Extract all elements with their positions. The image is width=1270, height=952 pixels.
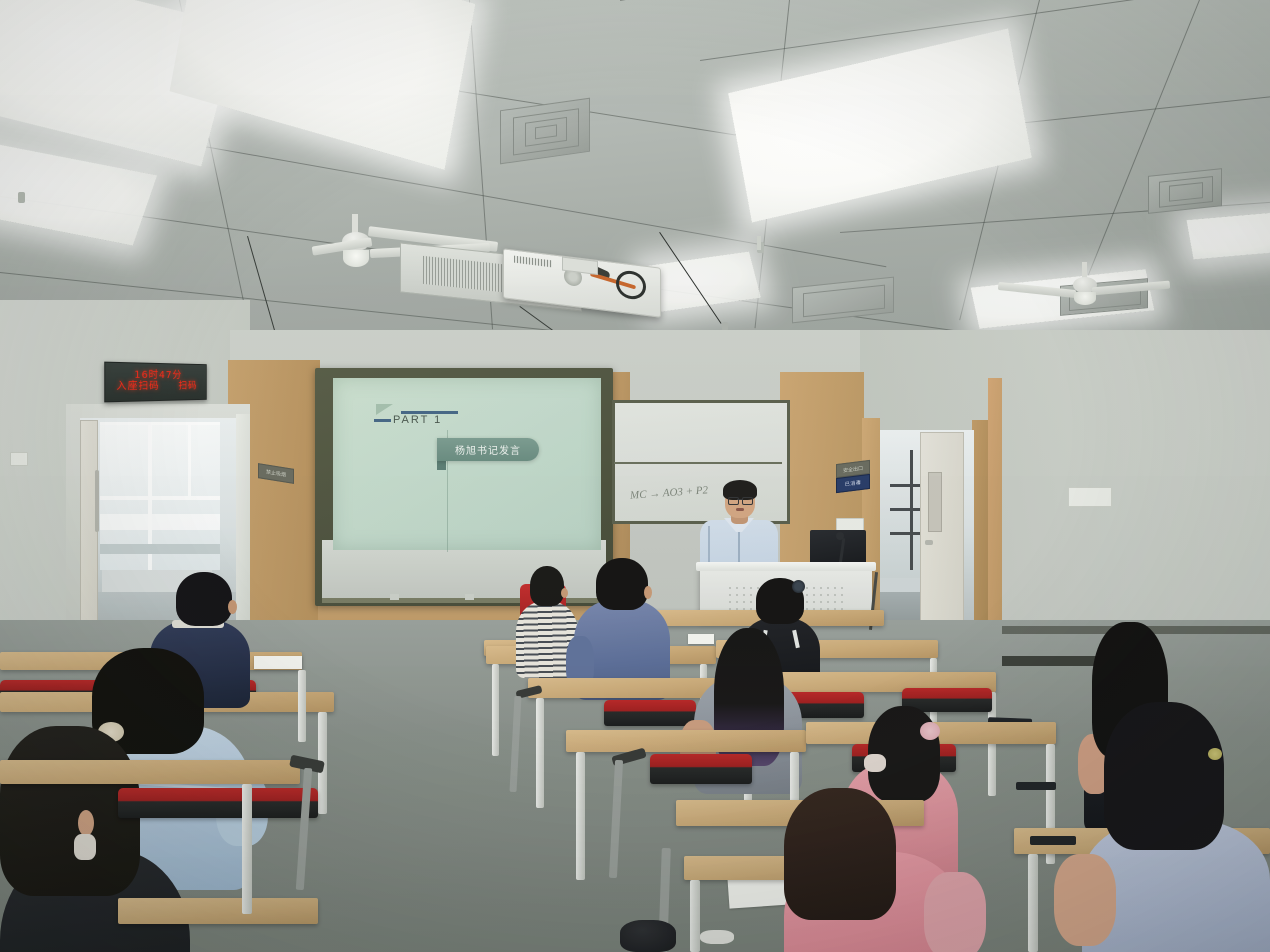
glasses-bridge — [737, 499, 742, 500]
sprinkler-head — [18, 192, 25, 203]
hair-clip — [1208, 748, 1222, 760]
desk-leg — [492, 664, 499, 756]
student-11-arm — [924, 872, 986, 952]
projection-screen: PART 1 杨旭书记发言 — [333, 378, 601, 550]
ceiling-light-panel — [170, 0, 476, 170]
student-8-ear — [78, 810, 94, 836]
student-2-ear — [644, 586, 652, 599]
slide-decor-bar-short — [374, 419, 391, 422]
student-6-hair — [176, 572, 232, 626]
desk-left-row4 — [118, 898, 318, 924]
led-display: 16时47分 入座扫码 扫码 — [104, 362, 206, 403]
desk-row4 — [566, 730, 806, 752]
led-line-2-left: 入座扫码 — [116, 381, 159, 393]
air-vent — [500, 98, 590, 165]
door-handle-right[interactable] — [925, 540, 933, 545]
led-line-2-right: 扫码 — [178, 381, 197, 392]
student-10-hair — [1104, 702, 1224, 850]
student-8-face-mask — [74, 834, 96, 860]
podium-top-surface — [696, 562, 876, 571]
student-1-hair — [530, 566, 564, 606]
door-handle-left[interactable] — [95, 470, 99, 532]
ceiling-light-panel — [1186, 210, 1270, 259]
slide-headline: 杨旭书记发言 — [437, 438, 539, 461]
desk-leg — [690, 880, 700, 952]
speaker-mouth — [736, 508, 744, 511]
door-right-vision-panel — [928, 472, 942, 532]
paper-sheet[interactable] — [254, 656, 302, 669]
classroom-photo: 禁止吸烟 16时47分 入座扫码 扫码 PART 1 杨旭书记发言 MC → A… — [0, 0, 1270, 952]
hair-clip — [792, 580, 805, 593]
board-clip — [390, 594, 399, 600]
desk-leg — [576, 752, 585, 880]
wall-outlet[interactable] — [1068, 487, 1112, 507]
backpack — [620, 920, 676, 952]
desk-leg — [242, 784, 252, 914]
wall-outlet[interactable] — [10, 452, 28, 466]
desk-leg — [1028, 854, 1038, 952]
door-right-leaf[interactable] — [920, 432, 964, 640]
chair[interactable] — [118, 788, 318, 818]
hair-scrunchie — [920, 722, 940, 740]
desk-leg — [536, 698, 544, 808]
wood-door-frame-right-outer — [972, 420, 988, 638]
chair[interactable] — [604, 700, 696, 726]
projector-mount-pole — [757, 236, 761, 250]
board-clip — [465, 594, 474, 600]
ceiling-light-panel — [644, 251, 761, 312]
student-10-arm — [1054, 854, 1116, 946]
glasses-right-lens — [742, 497, 753, 505]
shoe — [700, 930, 734, 944]
student-2-hair — [596, 558, 648, 610]
student-1-ear — [561, 588, 568, 598]
led-line-1: 16时47分 — [105, 369, 206, 381]
podium-microphone-head — [836, 532, 844, 540]
slide-part-label: PART 1 — [393, 414, 442, 426]
student-11-hair — [784, 788, 896, 920]
slide-decor-triangle — [376, 404, 393, 415]
wall-right-corner — [988, 378, 1002, 638]
ceiling-light-panel — [728, 28, 1032, 222]
chair[interactable] — [650, 754, 752, 784]
student-5-face-mask — [864, 754, 886, 772]
student-6-ear — [228, 600, 237, 614]
paper-sheet[interactable] — [688, 634, 714, 644]
mobile-phone[interactable] — [1030, 836, 1076, 845]
whiteboard-divider — [614, 462, 782, 464]
mobile-phone[interactable] — [1016, 782, 1056, 790]
desk-left-row3 — [0, 760, 300, 784]
air-conditioner-cassette — [792, 277, 894, 324]
desk-leg — [298, 670, 306, 742]
air-vent — [1148, 168, 1222, 214]
